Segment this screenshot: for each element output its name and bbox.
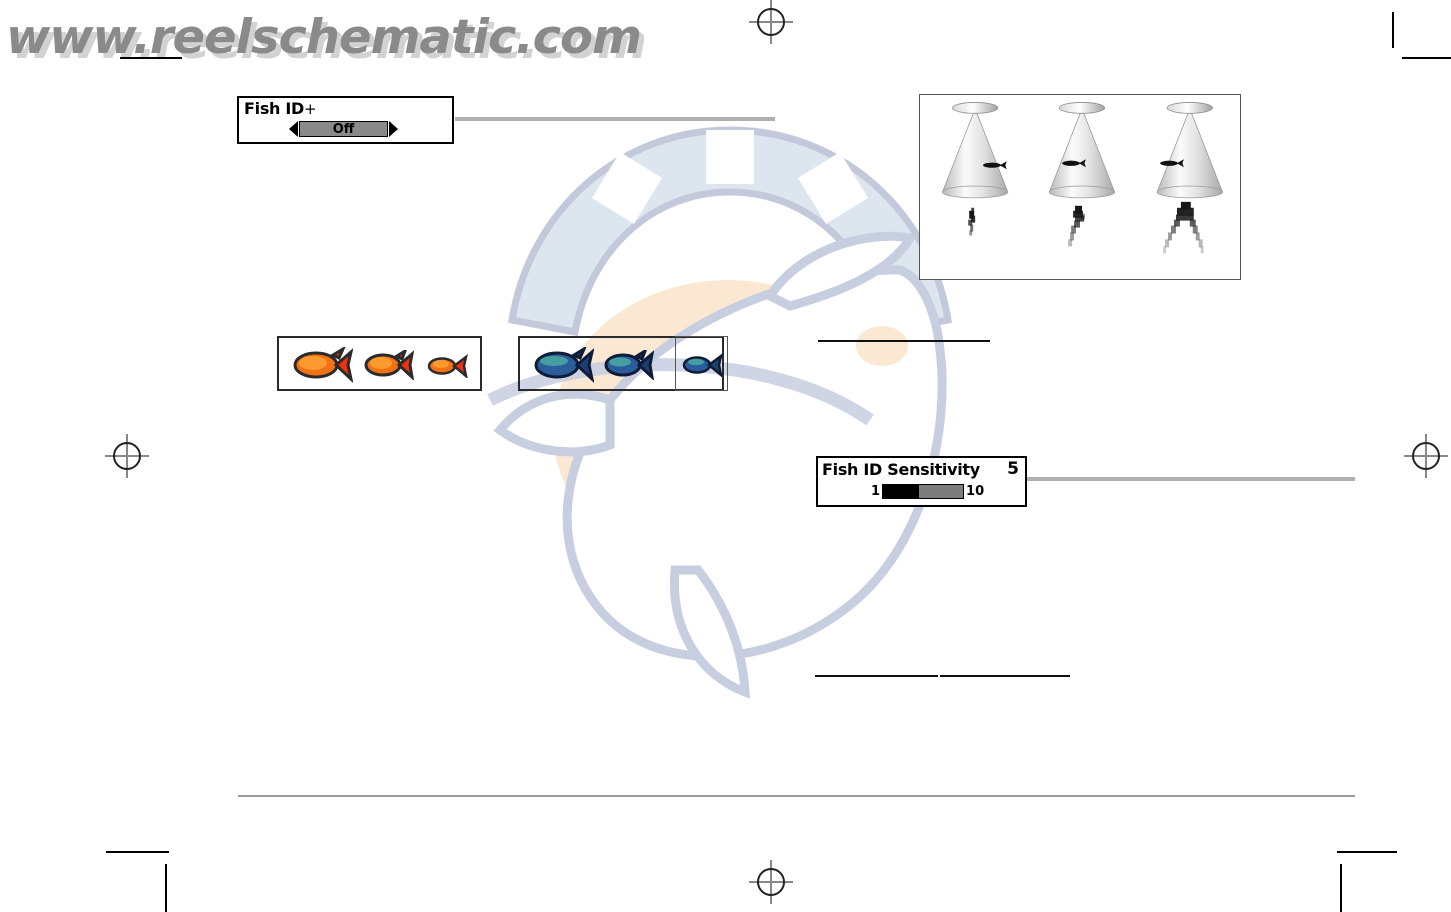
sonar-return-arch-2 [1068, 206, 1085, 247]
fish-id-title-text: Fish ID [244, 99, 304, 118]
footer-rule [238, 795, 1355, 797]
sonar-return-arch-3 [1163, 202, 1204, 253]
crop-mark-tl-h [120, 57, 182, 59]
medium-blue-fish-icon [602, 350, 654, 380]
fish-id-menu-box[interactable]: Fish ID+ Off [237, 96, 454, 144]
leader-line-sensitivity [1027, 477, 1355, 481]
callout-rule-lower-right [940, 675, 1070, 677]
fish-id-value[interactable]: Off [299, 121, 388, 137]
small-blue-fish-subpanel [675, 336, 728, 391]
triangle-left-icon[interactable] [289, 121, 298, 137]
fish-id-plus-symbol: + [304, 100, 316, 118]
cone-panel-2 [1049, 102, 1114, 246]
cone-panel-3 [1157, 102, 1222, 253]
small-orange-fish-icon [426, 354, 468, 378]
slider-max-label: 10 [966, 485, 984, 498]
registration-mark-left [105, 434, 149, 478]
medium-orange-fish-icon [362, 350, 414, 380]
leader-line-fish-id [455, 117, 775, 121]
crop-mark-tr-v [1392, 12, 1394, 48]
slider-min-label: 1 [871, 485, 880, 498]
slider-fill [883, 485, 919, 498]
fish-id-sensitivity-slider[interactable]: 1 10 [871, 484, 984, 499]
transducer-icon-1 [952, 102, 998, 113]
large-orange-fish-icon [291, 347, 353, 383]
slider-track[interactable] [882, 484, 964, 499]
site-watermark-text: www.reelschematic.com [6, 10, 641, 65]
gear-ring-shape [504, 130, 948, 332]
crop-mark-bl-h [106, 851, 169, 853]
triangle-right-icon[interactable] [389, 121, 398, 137]
fish-id-sensitivity-label: Fish ID Sensitivity [822, 460, 980, 479]
logo-peach-body [553, 280, 903, 580]
small-blue-fish-icon [681, 353, 723, 377]
cone-panel-1 [942, 102, 1007, 235]
crop-mark-br-h [1337, 851, 1397, 853]
callout-rule-lower-left [815, 675, 938, 677]
background-logo-watermark [470, 100, 990, 740]
fish-id-sensitivity-menu-box[interactable]: Fish ID Sensitivity 5 1 10 [816, 456, 1027, 507]
registration-mark-bottom [749, 860, 793, 904]
fish-id-selector[interactable]: Off [289, 121, 398, 137]
callout-rule-upper [818, 340, 990, 342]
sonar-beam-coverage-diagram [919, 94, 1241, 280]
transducer-icon-3 [1167, 102, 1213, 113]
fish-id-sensitivity-value: 5 [1007, 459, 1019, 479]
transducer-icon-2 [1059, 102, 1105, 113]
slider-remainder [919, 485, 963, 498]
crop-mark-br-v [1340, 864, 1342, 912]
crop-mark-bl-v [165, 864, 167, 912]
registration-mark-right [1404, 434, 1448, 478]
fish-id-label: Fish ID+ [244, 99, 316, 118]
sonar-return-arch-1 [968, 208, 975, 236]
large-blue-fish-icon [532, 347, 594, 383]
crop-mark-tr-h [1402, 57, 1451, 59]
blue-fish-symbol-panel [518, 336, 724, 391]
registration-mark-top [749, 0, 793, 44]
orange-fish-symbol-panel [277, 336, 482, 391]
